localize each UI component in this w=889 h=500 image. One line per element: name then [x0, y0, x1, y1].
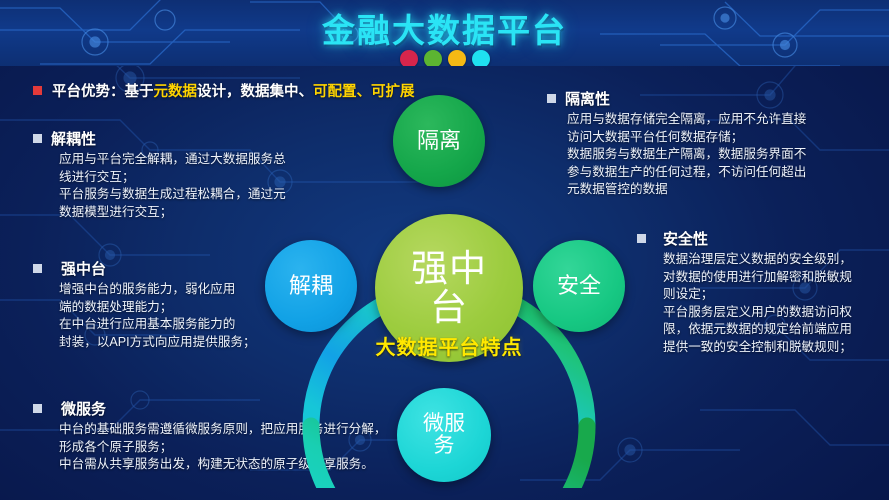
- diagram-node-security[interactable]: 安全: [533, 240, 625, 332]
- advantage-prefix: 平台优势：基于: [52, 84, 154, 100]
- diagram-node-isolation[interactable]: 隔离: [393, 95, 485, 187]
- header-band: 金融大数据平台: [0, 0, 889, 66]
- bullet-square-icon: [33, 264, 42, 273]
- block-line: 则设定；: [663, 286, 852, 304]
- bullet-square-icon: [33, 86, 42, 95]
- bullet-square-icon: [33, 134, 42, 143]
- center-diagram: 强中台 隔离 解耦 安全 微服务 大数据平台特点: [249, 88, 649, 488]
- block-heading-label: 微服务: [51, 398, 106, 419]
- block-body-security: 数据治理层定义数据的安全级别， 对数据的使用进行加解密和脱敏规 则设定； 平台服…: [637, 251, 852, 356]
- block-heading-strong-midplatform: 强中台: [33, 258, 256, 279]
- advantage-highlight-1: 元数据: [154, 84, 198, 100]
- block-heading-label: 强中台: [51, 258, 106, 279]
- block-heading-security: 安全性: [637, 228, 852, 249]
- text-block-security: 安全性 数据治理层定义数据的安全级别， 对数据的使用进行加解密和脱敏规 则设定；…: [637, 228, 852, 356]
- diagram-node-microservice[interactable]: 微服务: [397, 388, 491, 482]
- block-line: 增强中台的服务能力，弱化应用: [59, 281, 256, 299]
- block-line: 限，依据元数据的规定给前端应用: [663, 321, 852, 339]
- text-block-strong-midplatform: 强中台 增强中台的服务能力，弱化应用 端的数据处理能力； 在中台进行应用基本服务…: [33, 258, 256, 351]
- dot-amber-icon: [448, 50, 466, 66]
- header-dot-row: [0, 50, 889, 66]
- block-line: 在中台进行应用基本服务能力的: [59, 316, 256, 334]
- block-heading-decoupling: 解耦性: [33, 128, 286, 149]
- dot-red-icon: [400, 50, 418, 66]
- block-line: 平台服务层定义用户的数据访问权: [663, 304, 852, 322]
- block-heading-label: 安全性: [655, 228, 708, 249]
- dot-cyan-icon: [472, 50, 490, 66]
- block-heading-label: 解耦性: [51, 128, 96, 149]
- bullet-square-icon: [33, 404, 42, 413]
- block-line: 对数据的使用进行加解密和脱敏规: [663, 269, 852, 287]
- block-body-decoupling: 应用与平台完全解耦，通过大数据服务总 线进行交互； 平台服务与数据生成过程松耦合…: [33, 151, 286, 221]
- diagram-node-security-label: 安全: [557, 274, 601, 297]
- block-line: 数据治理层定义数据的安全级别，: [663, 251, 852, 269]
- diagram-node-isolation-label: 隔离: [417, 129, 461, 152]
- page-title: 金融大数据平台: [0, 4, 889, 52]
- diagram-node-microservice-label: 微服务: [416, 413, 472, 458]
- block-line: 提供一致的安全控制和脱敏规则；: [663, 339, 852, 357]
- diagram-node-decoupling-label: 解耦: [289, 274, 333, 297]
- diagram-caption: 大数据平台特点: [249, 331, 649, 360]
- dot-green-icon: [424, 50, 442, 66]
- text-block-decoupling: 解耦性 应用与平台完全解耦，通过大数据服务总 线进行交互； 平台服务与数据生成过…: [33, 128, 286, 221]
- block-body-strong-midplatform: 增强中台的服务能力，弱化应用 端的数据处理能力； 在中台进行应用基本服务能力的 …: [33, 281, 256, 351]
- block-line: 封装，以API方式向应用提供服务；: [59, 334, 256, 352]
- diagram-node-decoupling[interactable]: 解耦: [265, 240, 357, 332]
- diagram-node-center-label: 强中台: [409, 249, 489, 327]
- block-line: 端的数据处理能力；: [59, 299, 256, 317]
- slide-canvas: 金融大数据平台 平台优势：基于元数据设计，数据集中、可配置、可扩展 解耦性 应用…: [0, 0, 889, 500]
